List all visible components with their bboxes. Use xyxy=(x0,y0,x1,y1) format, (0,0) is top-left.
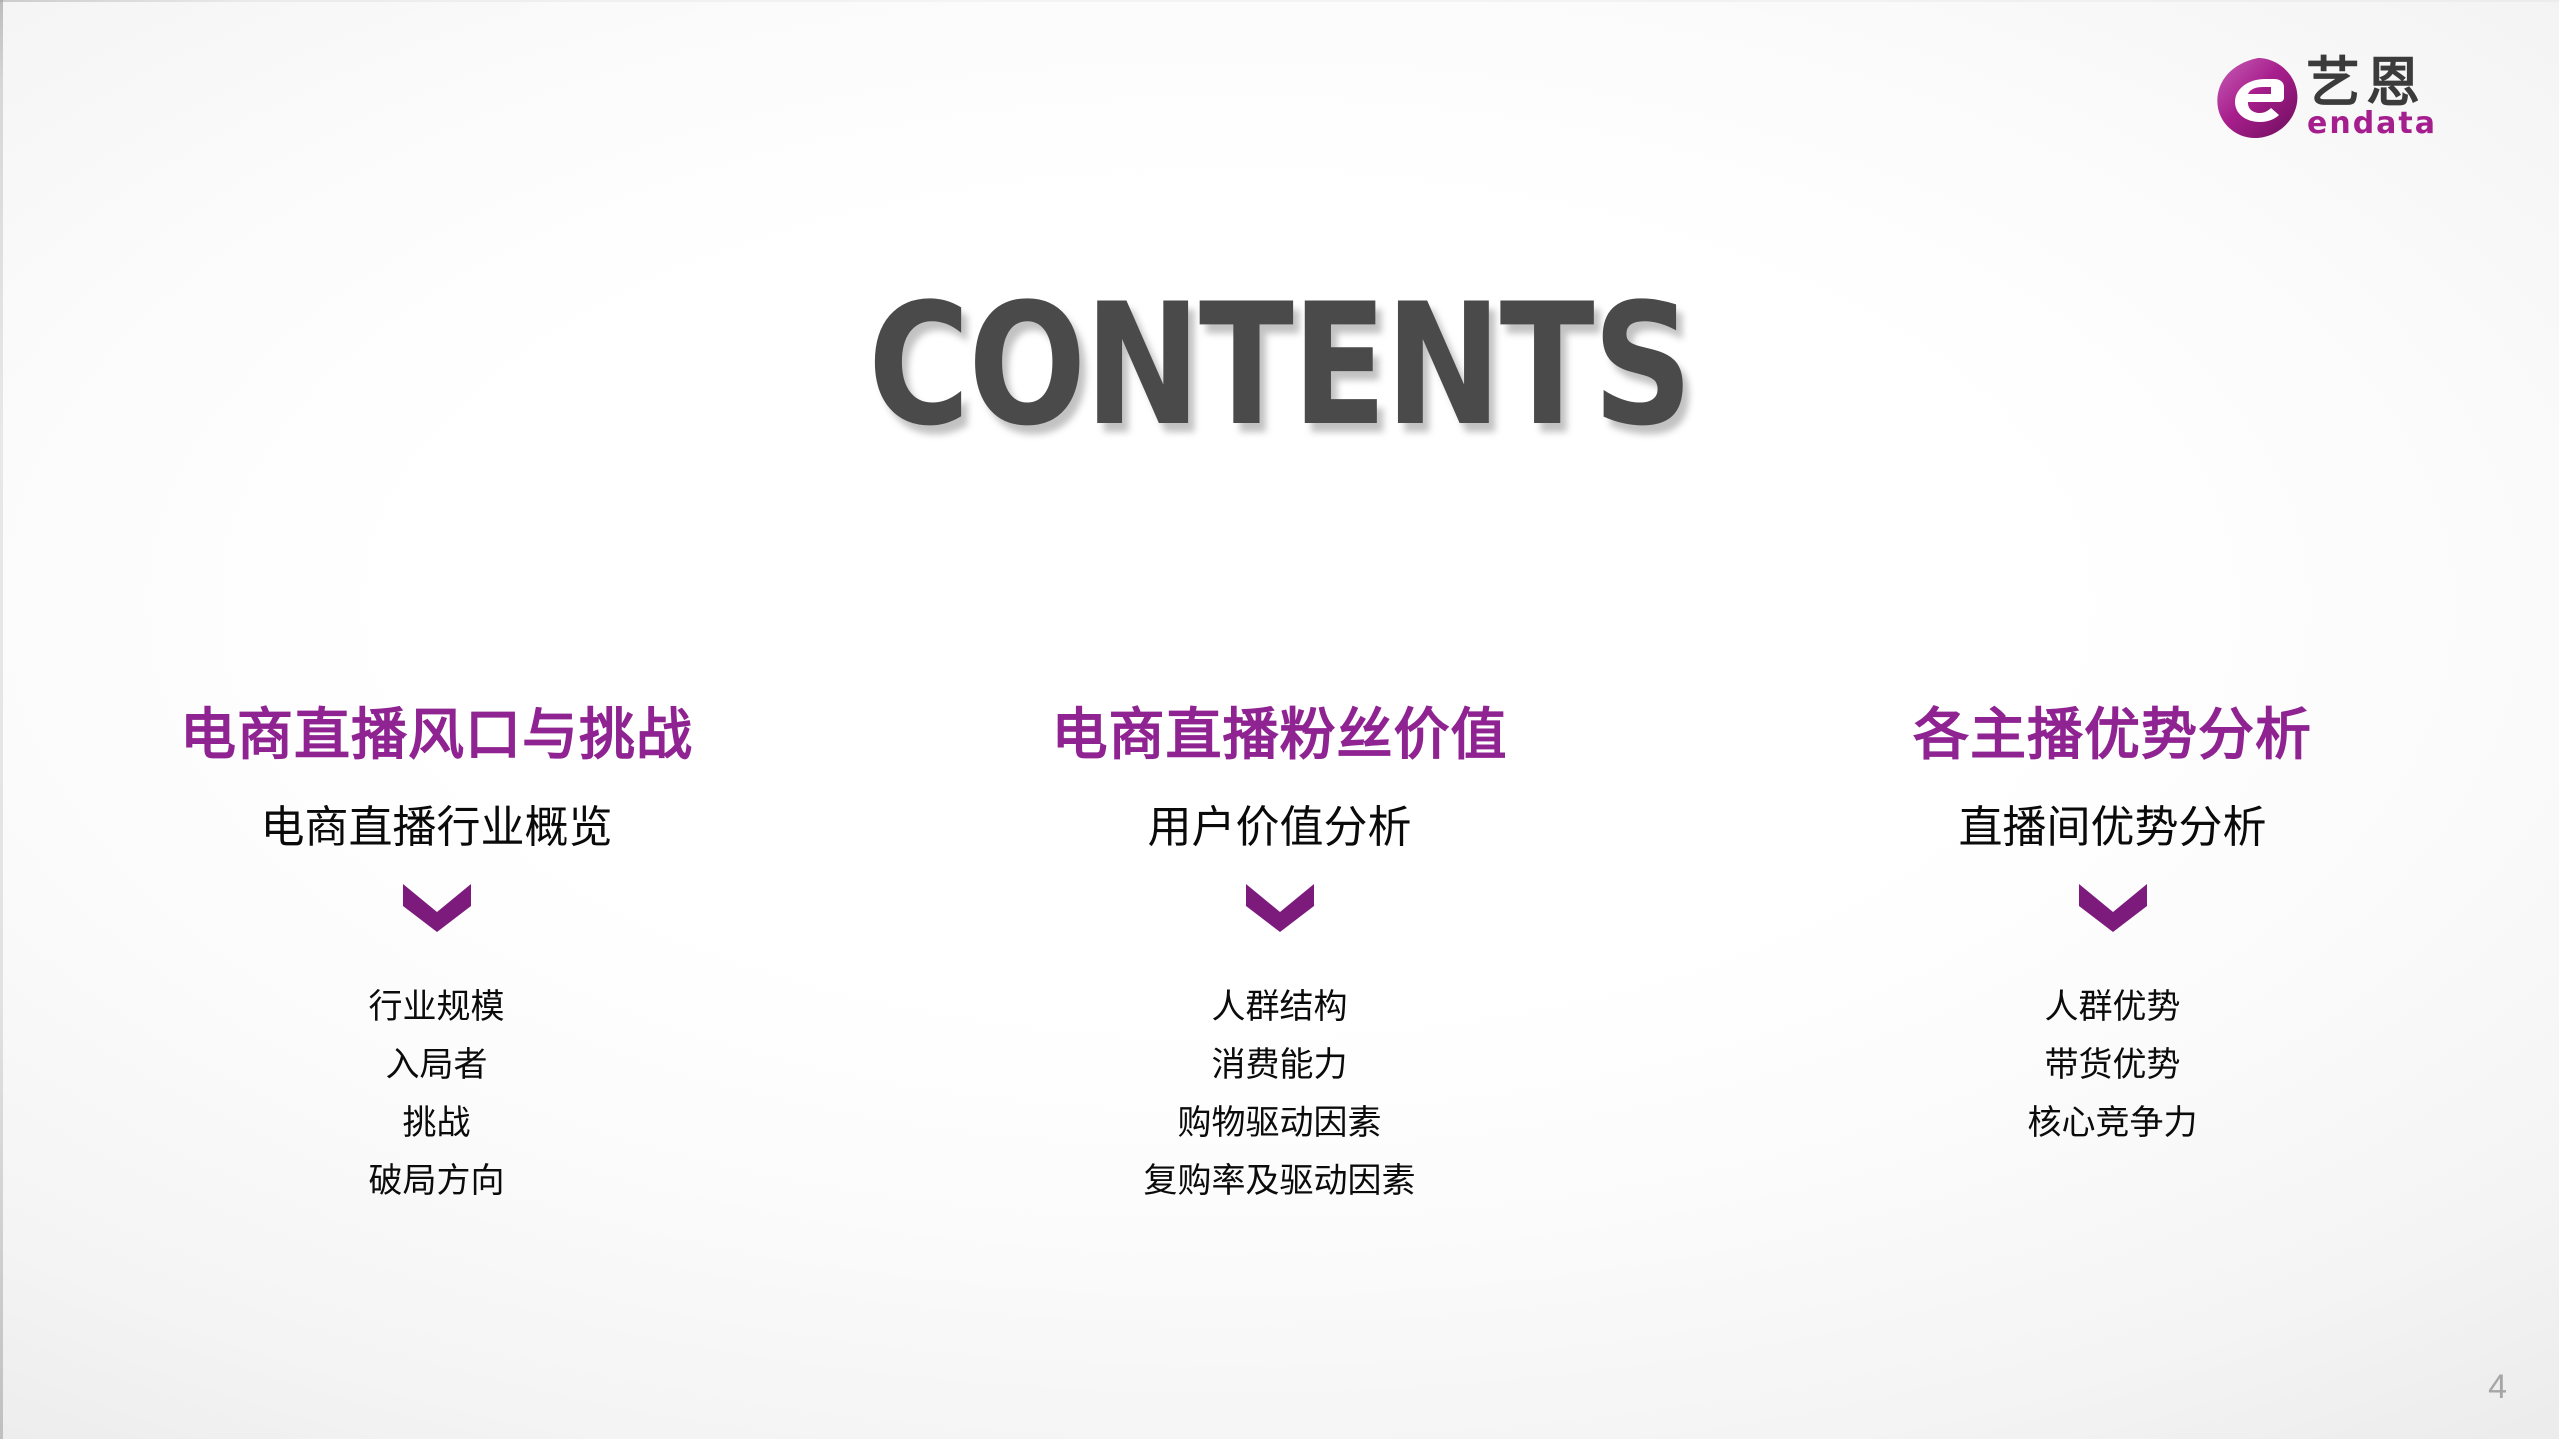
contents-column-3: 各主播优势分析 直播间优势分析 人群优势 带货优势 核心竞争力 xyxy=(1696,700,2559,1210)
list-item[interactable]: 带货优势 xyxy=(1696,1036,2529,1094)
contents-columns: 电商直播风口与挑战 电商直播行业概览 行业规模 入局者 挑战 破局方向 电商直播… xyxy=(0,700,2559,1210)
column-3-heading[interactable]: 各主播优势分析 xyxy=(1696,700,2529,772)
column-2-items: 人群结构 消费能力 购物驱动因素 复购率及驱动因素 xyxy=(863,978,1696,1210)
column-2-arrow xyxy=(863,882,1696,946)
chevron-down-icon xyxy=(1240,882,1320,934)
list-item[interactable]: 行业规模 xyxy=(20,978,853,1036)
page-number: 4 xyxy=(2488,1368,2507,1407)
list-item[interactable]: 入局者 xyxy=(20,1036,853,1094)
column-3-subtitle: 直播间优势分析 xyxy=(1696,800,2529,856)
column-1-heading[interactable]: 电商直播风口与挑战 xyxy=(20,700,853,772)
list-item[interactable]: 消费能力 xyxy=(863,1036,1696,1094)
slide-top-edge xyxy=(0,0,2559,2)
list-item[interactable]: 人群优势 xyxy=(1696,978,2529,1036)
page-title: CONTENTS xyxy=(102,285,2456,445)
column-2-subtitle: 用户价值分析 xyxy=(863,800,1696,856)
column-3-arrow xyxy=(1696,882,2529,946)
endata-e-icon xyxy=(2214,56,2300,140)
contents-column-1: 电商直播风口与挑战 电商直播行业概览 行业规模 入局者 挑战 破局方向 xyxy=(0,700,853,1210)
brand-logo: 艺恩 endata xyxy=(2214,52,2484,144)
list-item[interactable]: 购物驱动因素 xyxy=(863,1094,1696,1152)
chevron-down-icon xyxy=(397,882,477,934)
column-3-items: 人群优势 带货优势 核心竞争力 xyxy=(1696,978,2529,1152)
chevron-down-icon xyxy=(2073,882,2153,934)
list-item[interactable]: 破局方向 xyxy=(20,1152,853,1210)
column-2-heading[interactable]: 电商直播粉丝价值 xyxy=(863,700,1696,772)
column-1-subtitle: 电商直播行业概览 xyxy=(20,800,853,856)
list-item[interactable]: 复购率及驱动因素 xyxy=(863,1152,1696,1210)
list-item[interactable]: 核心竞争力 xyxy=(1696,1094,2529,1152)
contents-column-2: 电商直播粉丝价值 用户价值分析 人群结构 消费能力 购物驱动因素 复购率及驱动因… xyxy=(853,700,1696,1210)
list-item[interactable]: 挑战 xyxy=(20,1094,853,1152)
logo-cn-name: 艺恩 xyxy=(2306,54,2426,112)
list-item[interactable]: 人群结构 xyxy=(863,978,1696,1036)
column-1-items: 行业规模 入局者 挑战 破局方向 xyxy=(20,978,853,1210)
logo-en-name: endata xyxy=(2307,108,2437,140)
column-1-arrow xyxy=(20,882,853,946)
